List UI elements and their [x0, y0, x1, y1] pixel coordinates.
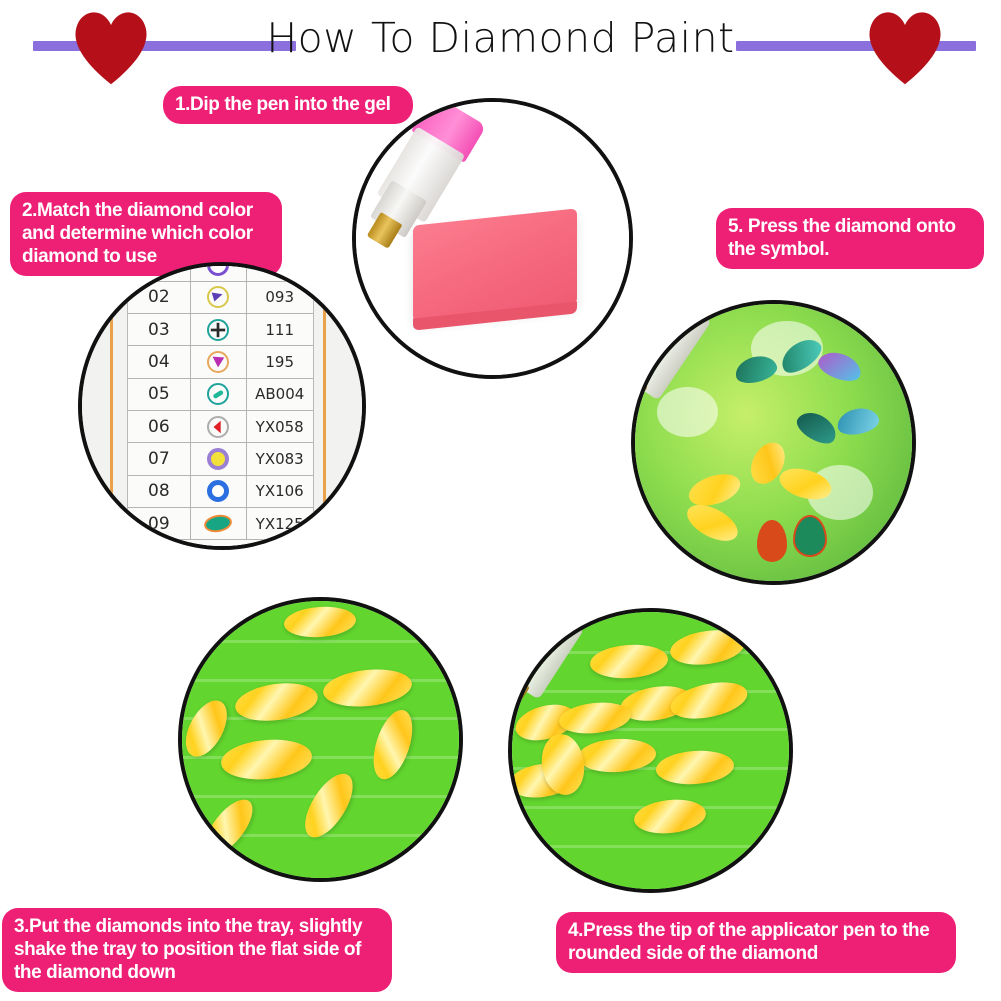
leaf-symbol: [190, 508, 247, 539]
chart-margin-line: [110, 262, 113, 550]
table-row: 07 YX083: [128, 443, 313, 475]
table-row: 04 195: [128, 346, 313, 378]
chart-number: 02: [128, 287, 190, 307]
pen-tip: [508, 678, 530, 741]
table-row: 05 AB004: [128, 379, 313, 411]
step-3-photo: [178, 597, 463, 882]
chart-code: 111: [247, 321, 313, 339]
ring-symbol: [190, 476, 247, 507]
chart-number: 07: [128, 449, 190, 469]
capsule-symbol: [190, 379, 247, 410]
yellow-diamond: [558, 700, 633, 738]
chart-code: YX083: [247, 450, 313, 468]
color-chart-photo: 01 026 02 093 03: [82, 266, 362, 546]
step-4-photo: [508, 608, 793, 893]
chart-code: YX106: [247, 482, 313, 500]
chart-number: 06: [128, 417, 190, 437]
gel-photo: [356, 102, 629, 375]
chart-code: 195: [247, 353, 313, 371]
diamond-color-chart: 01 026 02 093 03: [127, 262, 314, 550]
tray-photo: [182, 601, 459, 878]
table-row: 06 YX058: [128, 411, 313, 443]
triangle-symbol: [190, 282, 247, 313]
yellow-diamond: [322, 666, 414, 711]
yellow-diamond: [197, 791, 262, 862]
step-5-photo: [631, 300, 916, 585]
step-3-label: 3.Put the diamonds into the tray, slight…: [2, 908, 392, 992]
step-5-label: 5. Press the diamond onto the symbol.: [716, 208, 984, 269]
chart-number: 04: [128, 352, 190, 372]
tray-photo: [512, 612, 789, 889]
chevron-symbol: [190, 411, 247, 442]
chart-code: YX058: [247, 418, 313, 436]
chart-number: 03: [128, 320, 190, 340]
yellow-diamond: [682, 498, 744, 548]
dotted-circle-symbol: [190, 262, 247, 281]
filled-circle-symbol: [190, 443, 247, 474]
yellow-diamond: [219, 736, 313, 783]
header: How To Diamond Paint: [0, 0, 1001, 80]
yellow-diamond: [667, 676, 750, 725]
symbol-leaf: [793, 515, 827, 558]
chart-code: AB004: [247, 385, 313, 403]
yellow-diamond: [668, 626, 747, 669]
chart-number: 08: [128, 481, 190, 501]
table-row: 08 YX106: [128, 476, 313, 508]
chart-code: 093: [247, 288, 313, 306]
step-4-label: 4.Press the tip of the applicator pen to…: [556, 912, 956, 973]
plus-symbol: [190, 314, 247, 345]
infographic-stage: How To Diamond Paint 1.Dip the pen into …: [0, 0, 1001, 1001]
triangle-symbol: [190, 346, 247, 377]
step-1-photo: [352, 98, 633, 379]
yellow-diamond: [655, 748, 735, 787]
page-title: How To Diamond Paint: [0, 14, 1001, 62]
table-row: 09 YX125: [128, 508, 313, 540]
yellow-diamond: [284, 604, 358, 639]
chart-margin-line: [323, 262, 326, 550]
symbol-leaf: [757, 520, 787, 562]
applicator-pen: [631, 300, 730, 461]
chart-code: YX125: [247, 515, 313, 533]
chart-number: 05: [128, 384, 190, 404]
placed-gem: [792, 406, 840, 448]
chart-number: 09: [128, 514, 190, 534]
canvas-photo: [635, 304, 912, 581]
placed-gem: [835, 405, 881, 438]
yellow-diamond: [632, 797, 707, 838]
yellow-diamond: [588, 643, 668, 682]
table-row: 03 111: [128, 314, 313, 346]
step-2-photo: 01 026 02 093 03: [78, 262, 366, 550]
table-row: 02 093: [128, 282, 313, 314]
